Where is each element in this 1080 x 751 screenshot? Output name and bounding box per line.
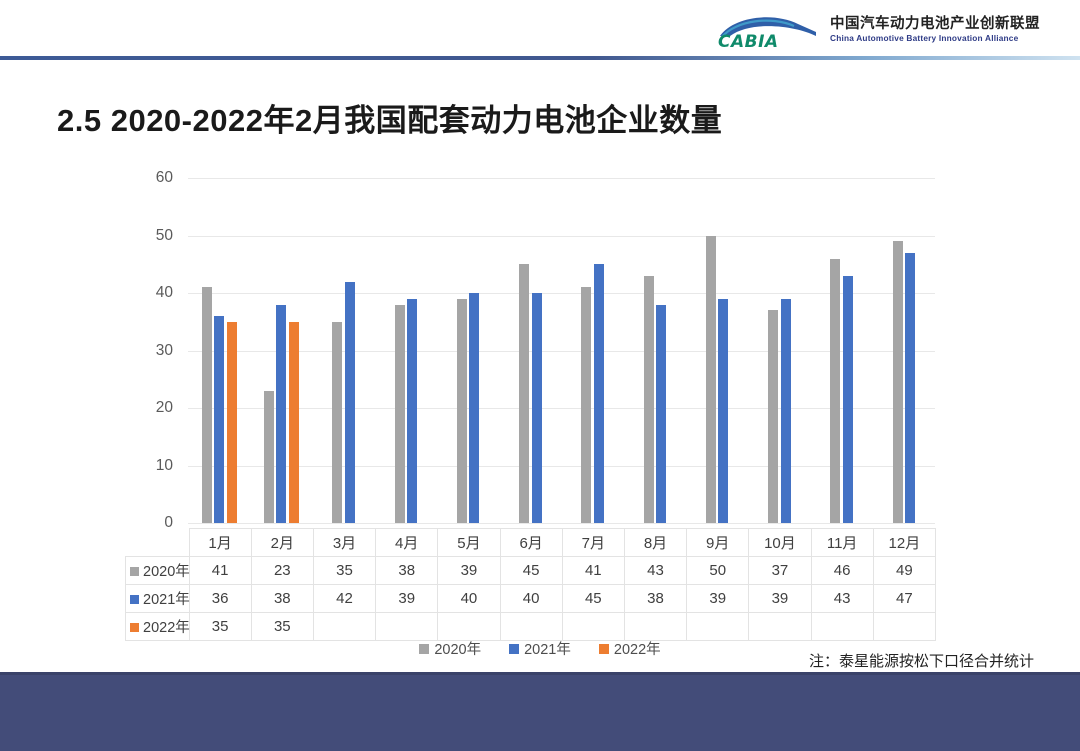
bar-2020年-9月 xyxy=(706,236,716,524)
table-column-header: 7月 xyxy=(562,529,624,557)
bar-2020年-10月 xyxy=(768,310,778,523)
y-axis-tick-label: 10 xyxy=(125,457,173,475)
bar-2020年-11月 xyxy=(830,259,840,524)
table-row: 2022年3535 xyxy=(126,613,936,641)
page-title: 2.5 2020-2022年2月我国配套动力电池企业数量 xyxy=(57,95,722,140)
legend-color-icon xyxy=(599,644,609,654)
bar-2021年-7月 xyxy=(594,264,604,523)
table-cell xyxy=(438,613,500,641)
cabia-logo-mark: CABIA xyxy=(712,10,820,50)
table-cell: 42 xyxy=(313,585,375,613)
header-divider xyxy=(0,56,1080,60)
bar-2021年-8月 xyxy=(656,305,666,524)
bar-2021年-4月 xyxy=(407,299,417,523)
bar-group xyxy=(873,178,935,523)
legend-label: 2022年 xyxy=(614,638,661,659)
plot-area xyxy=(188,178,935,523)
table-cell: 49 xyxy=(873,557,935,585)
bar-group xyxy=(188,178,250,523)
table-header-row: 1月2月3月4月5月6月7月8月9月10月11月12月 xyxy=(126,529,936,557)
bar-2021年-6月 xyxy=(532,293,542,523)
legend-label: 2020年 xyxy=(434,638,481,659)
cabia-logo: CABIA 中国汽车动力电池产业创新联盟 China Automotive Ba… xyxy=(712,10,1040,50)
bar-group xyxy=(313,178,375,523)
bar-2022年-1月 xyxy=(227,322,237,523)
bar-group xyxy=(562,178,624,523)
bar-2020年-7月 xyxy=(581,287,591,523)
table-cell: 23 xyxy=(251,557,313,585)
table-cell xyxy=(749,613,811,641)
table-cell: 38 xyxy=(251,585,313,613)
bar-2021年-3月 xyxy=(345,282,355,524)
table-cell: 38 xyxy=(376,557,438,585)
bar-chart: 0102030405060 xyxy=(125,165,937,535)
legend-swatch-icon xyxy=(130,567,139,576)
org-name-en: China Automotive Battery Innovation Alli… xyxy=(830,34,1040,43)
bar-group xyxy=(686,178,748,523)
footer-band xyxy=(0,672,1080,751)
table-cell: 46 xyxy=(811,557,873,585)
legend-swatch-icon xyxy=(130,595,139,604)
table-row-label: 2022年 xyxy=(143,620,190,636)
bar-2021年-5月 xyxy=(469,293,479,523)
table-cell: 40 xyxy=(438,585,500,613)
table-column-header: 4月 xyxy=(376,529,438,557)
table-row-header: 2020年 xyxy=(126,557,190,585)
table-cell: 35 xyxy=(189,613,251,641)
table-column-header: 12月 xyxy=(873,529,935,557)
table-cell: 43 xyxy=(811,585,873,613)
bar-group xyxy=(499,178,561,523)
table-column-header: 9月 xyxy=(687,529,749,557)
table-cell: 47 xyxy=(873,585,935,613)
table-row-header: 2022年 xyxy=(126,613,190,641)
bar-group xyxy=(250,178,312,523)
bar-2020年-12月 xyxy=(893,241,903,523)
table-cell xyxy=(376,613,438,641)
bar-group xyxy=(375,178,437,523)
table-cell: 45 xyxy=(500,557,562,585)
legend-color-icon xyxy=(419,644,429,654)
table-cell: 39 xyxy=(749,585,811,613)
table-column-header: 3月 xyxy=(313,529,375,557)
table-column-header: 10月 xyxy=(749,529,811,557)
table-cell: 39 xyxy=(687,585,749,613)
table-cell: 35 xyxy=(251,613,313,641)
bar-2022年-2月 xyxy=(289,322,299,523)
bar-2020年-5月 xyxy=(457,299,467,523)
table-cell: 39 xyxy=(438,557,500,585)
table-cell: 38 xyxy=(624,585,686,613)
legend-label: 2021年 xyxy=(524,638,571,659)
legend-item-2020年[interactable]: 2020年 xyxy=(419,638,481,659)
table-cell: 41 xyxy=(189,557,251,585)
table-cell xyxy=(500,613,562,641)
table-row: 2020年412335383945414350374649 xyxy=(126,557,936,585)
table-column-header: 6月 xyxy=(500,529,562,557)
legend-item-2021年[interactable]: 2021年 xyxy=(509,638,571,659)
table-row-header: 2021年 xyxy=(126,585,190,613)
footnote: 注：泰星能源按松下口径合并统计 xyxy=(809,650,1034,671)
table-cell: 43 xyxy=(624,557,686,585)
bar-2021年-10月 xyxy=(781,299,791,523)
bar-2021年-9月 xyxy=(718,299,728,523)
bar-2020年-1月 xyxy=(202,287,212,523)
table-column-header: 2月 xyxy=(251,529,313,557)
table-cell: 37 xyxy=(749,557,811,585)
table-cell: 36 xyxy=(189,585,251,613)
table-cell: 40 xyxy=(500,585,562,613)
table-row-label: 2020年 xyxy=(143,564,190,580)
table-cell: 45 xyxy=(562,585,624,613)
y-axis-tick-label: 50 xyxy=(125,227,173,245)
y-axis-tick-label: 20 xyxy=(125,399,173,417)
table-cell xyxy=(313,613,375,641)
table-column-header: 8月 xyxy=(624,529,686,557)
table-column-header: 11月 xyxy=(811,529,873,557)
table-corner-cell xyxy=(126,529,190,557)
table-column-header: 1月 xyxy=(189,529,251,557)
legend-item-2022年[interactable]: 2022年 xyxy=(599,638,661,659)
bar-group xyxy=(624,178,686,523)
bar-2020年-6月 xyxy=(519,264,529,523)
table-cell xyxy=(811,613,873,641)
bar-group xyxy=(437,178,499,523)
bar-2021年-1月 xyxy=(214,316,224,523)
logo-text-block: 中国汽车动力电池产业创新联盟 China Automotive Battery … xyxy=(830,17,1040,43)
bar-group xyxy=(748,178,810,523)
bar-2020年-8月 xyxy=(644,276,654,523)
slide-header: CABIA 中国汽车动力电池产业创新联盟 China Automotive Ba… xyxy=(0,0,1080,58)
legend-swatch-icon xyxy=(130,623,139,632)
bar-group xyxy=(811,178,873,523)
table-cell xyxy=(562,613,624,641)
table-row: 2021年363842394040453839394347 xyxy=(126,585,936,613)
bar-2021年-11月 xyxy=(843,276,853,523)
table-cell: 35 xyxy=(313,557,375,585)
table-row-label: 2021年 xyxy=(143,592,190,608)
bar-2020年-3月 xyxy=(332,322,342,523)
table-cell xyxy=(873,613,935,641)
table-column-header: 5月 xyxy=(438,529,500,557)
chart-data-table: 1月2月3月4月5月6月7月8月9月10月11月12月2020年41233538… xyxy=(125,528,936,641)
bar-2020年-2月 xyxy=(264,391,274,523)
y-axis-tick-label: 40 xyxy=(125,284,173,302)
gridline xyxy=(188,523,935,524)
org-name-cn: 中国汽车动力电池产业创新联盟 xyxy=(830,17,1040,32)
y-axis-tick-label: 60 xyxy=(125,169,173,187)
bar-2021年-2月 xyxy=(276,305,286,524)
table-cell: 41 xyxy=(562,557,624,585)
bar-2021年-12月 xyxy=(905,253,915,523)
table-cell xyxy=(624,613,686,641)
table-cell xyxy=(687,613,749,641)
bar-2020年-4月 xyxy=(395,305,405,524)
legend-color-icon xyxy=(509,644,519,654)
table-cell: 50 xyxy=(687,557,749,585)
chart-data-table-body: 1月2月3月4月5月6月7月8月9月10月11月12月2020年41233538… xyxy=(126,529,936,641)
y-axis-tick-label: 30 xyxy=(125,342,173,360)
svg-text:CABIA: CABIA xyxy=(718,32,779,50)
table-cell: 39 xyxy=(376,585,438,613)
bar-series-container xyxy=(188,178,935,523)
